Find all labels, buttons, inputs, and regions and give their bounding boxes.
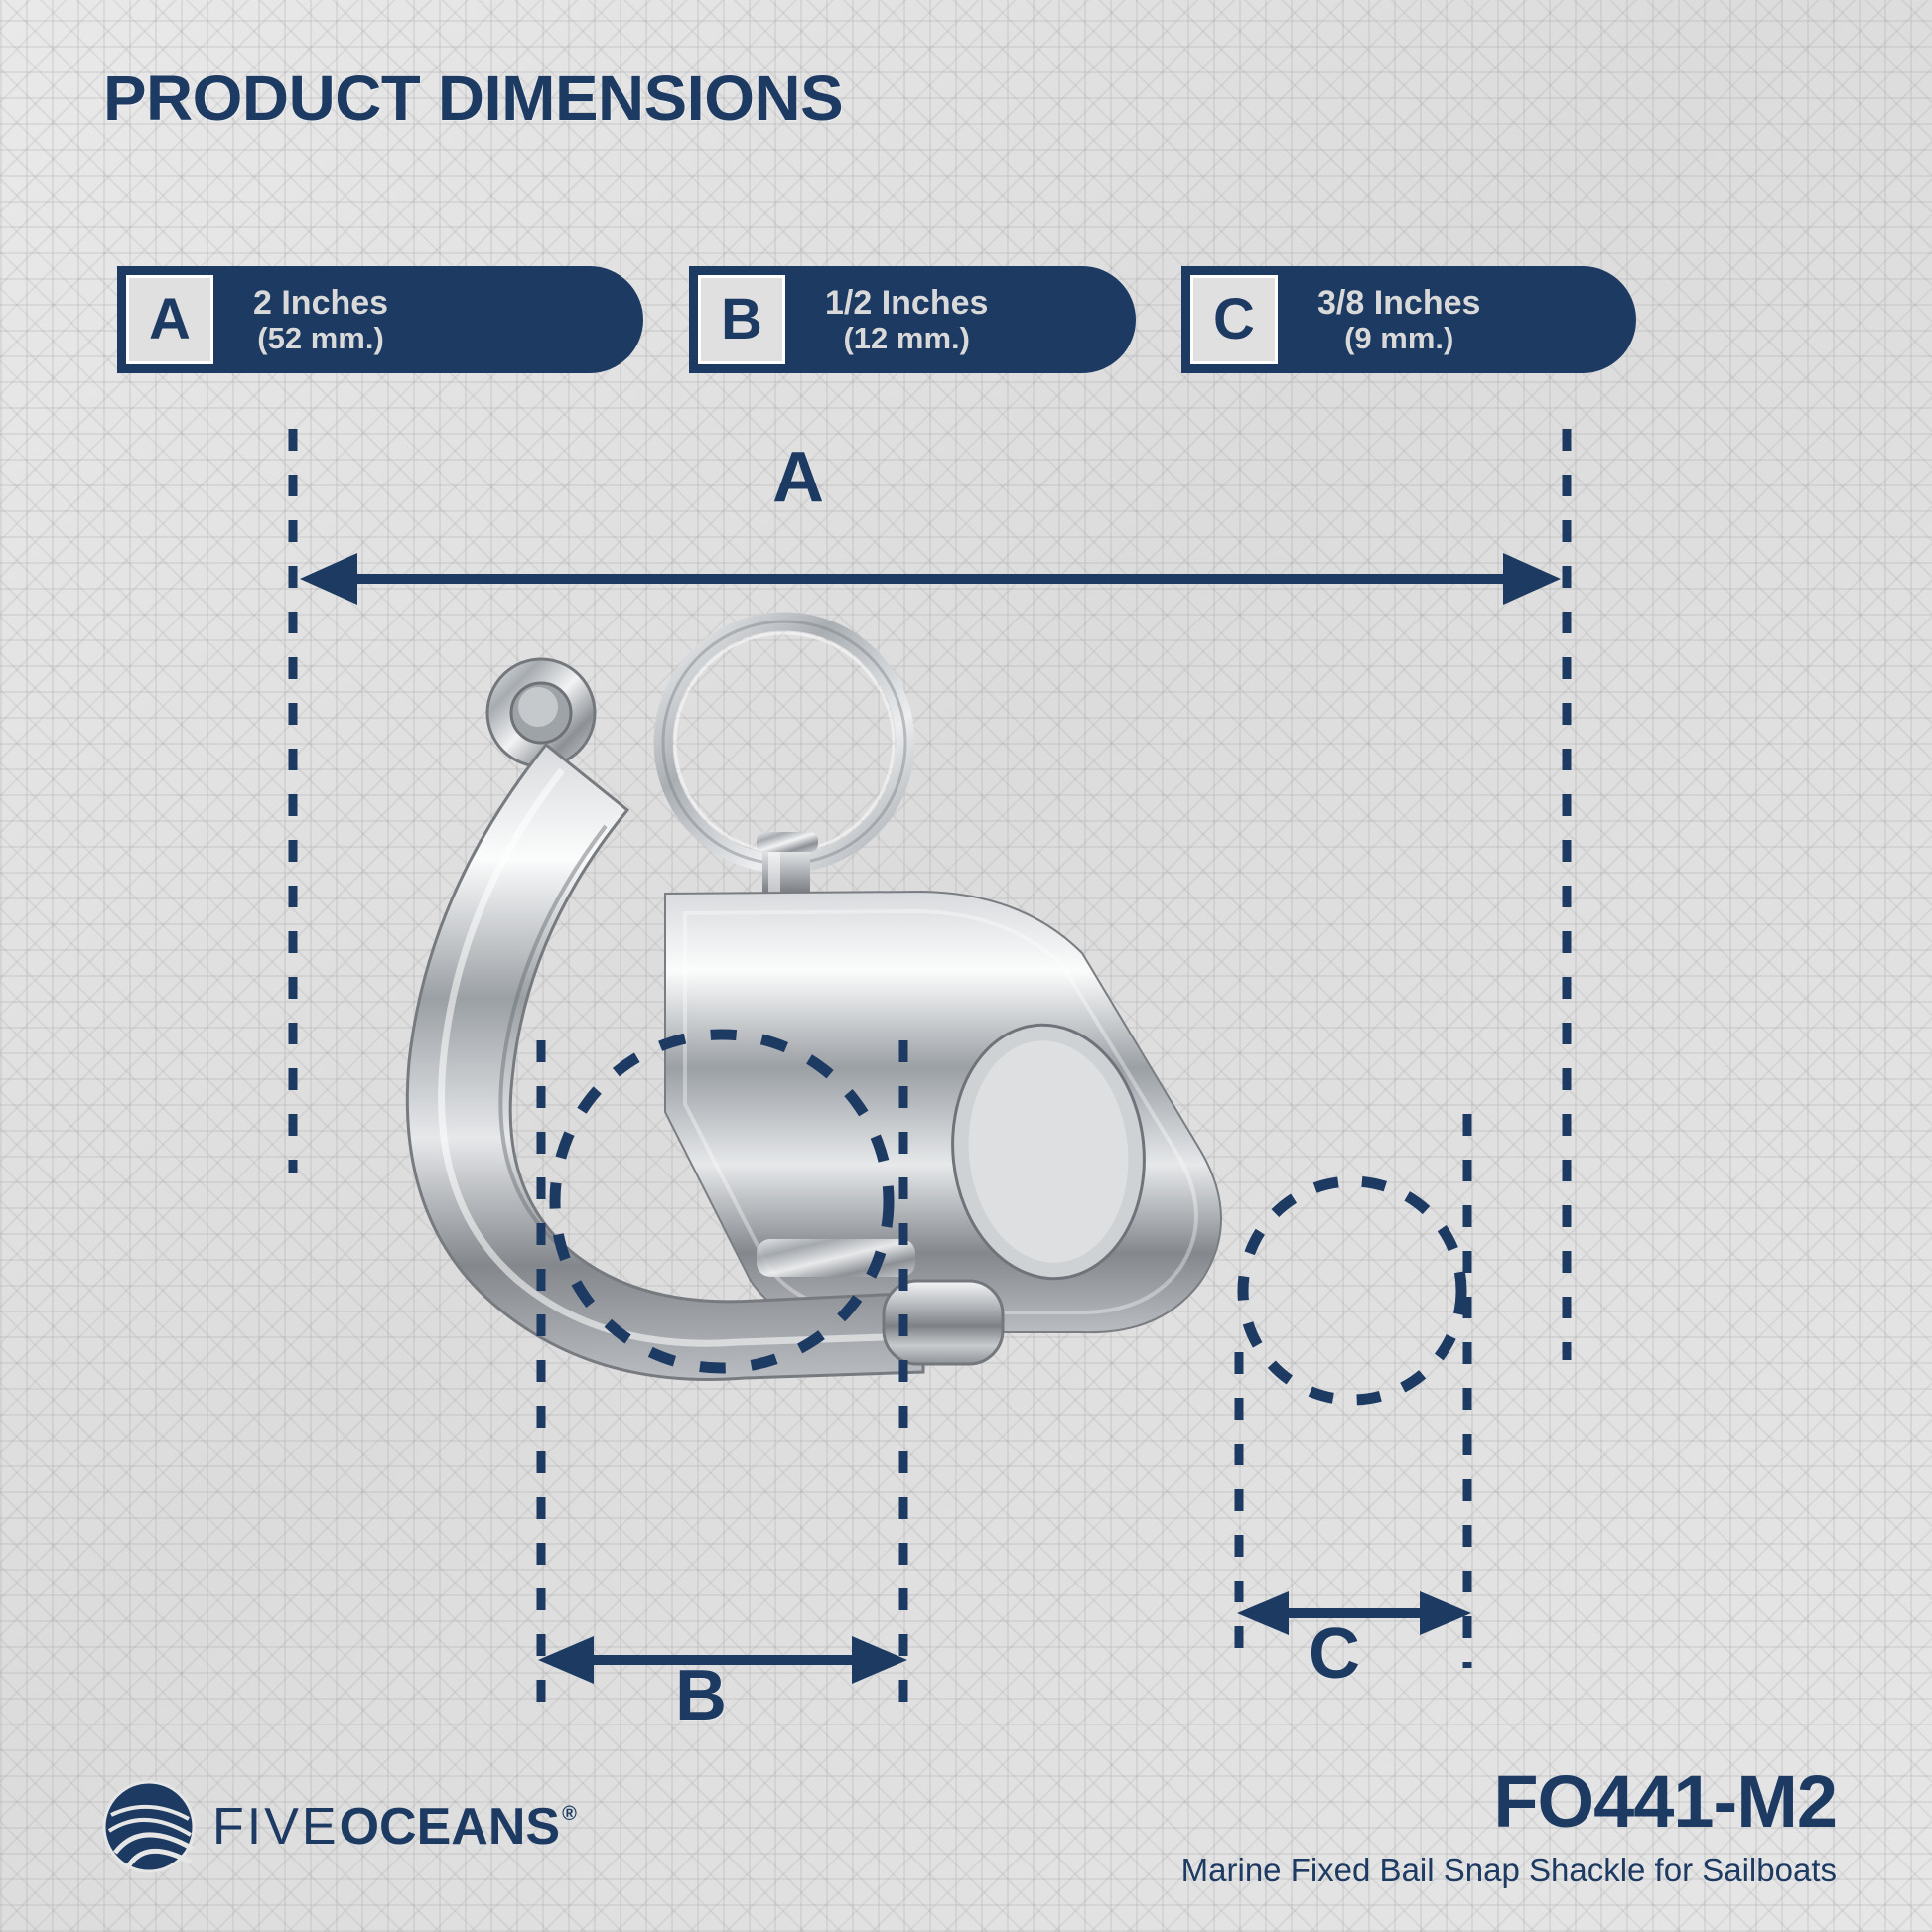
product-identity: FO441-M2 Marine Fixed Bail Snap Shackle … [1181, 1765, 1837, 1888]
logo-text-five: FIVE [212, 1801, 340, 1853]
arrowhead-a-right [1503, 553, 1561, 605]
dimension-label-c: C [1309, 1618, 1360, 1690]
product-dimensions-infographic: PRODUCT DIMENSIONS A 2 Inches (52 mm.) B… [0, 0, 1932, 1932]
five-oceans-globe-icon [101, 1779, 197, 1874]
logo-text-oceans: OCEANS [340, 1801, 560, 1853]
arrowhead-a-left [300, 553, 357, 605]
dimension-label-b: B [675, 1660, 727, 1731]
dashed-circle-b [555, 1035, 889, 1368]
dashed-circle-c [1243, 1181, 1461, 1400]
product-sku: FO441-M2 [1181, 1765, 1837, 1839]
brand-logo: FIVE OCEANS ® [101, 1779, 575, 1874]
product-description: Marine Fixed Bail Snap Shackle for Sailb… [1181, 1853, 1837, 1888]
dimension-label-a: A [772, 442, 824, 513]
dimension-annotations [0, 0, 1932, 1932]
brand-wordmark: FIVE OCEANS ® [212, 1801, 575, 1853]
registered-trademark-icon: ® [562, 1804, 577, 1824]
arrowhead-c-left [1237, 1591, 1289, 1635]
arrowhead-b-left [538, 1636, 594, 1684]
